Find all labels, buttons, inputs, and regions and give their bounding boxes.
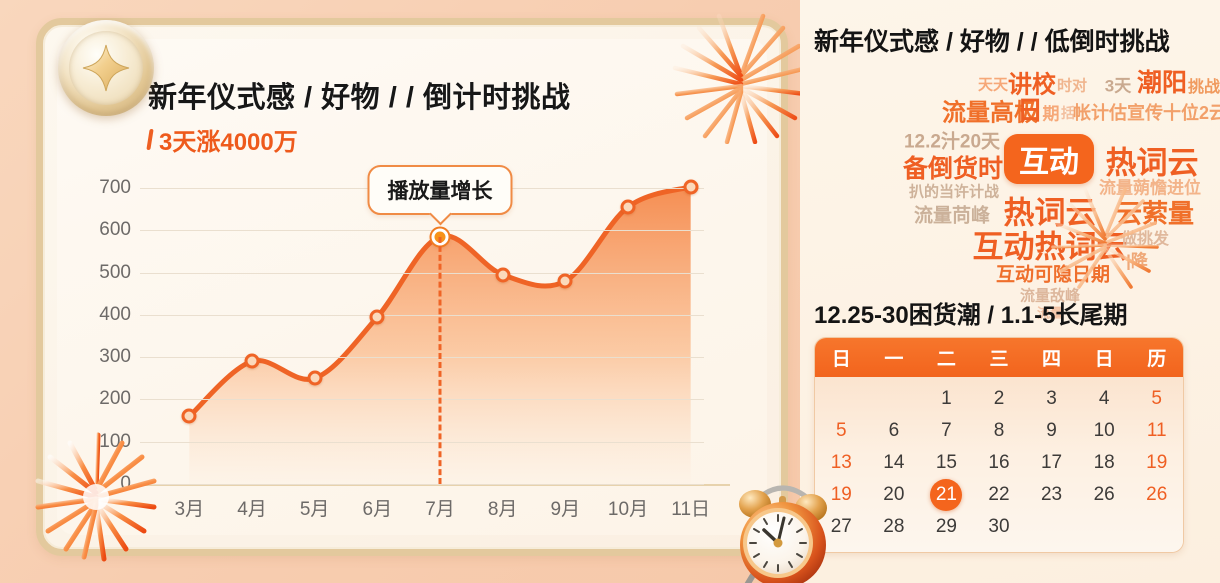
calendar-day-cell[interactable]: 19 <box>1130 447 1183 479</box>
calendar-weekday-header: 三 <box>973 338 1026 377</box>
calendar-header-row: 日一二三四日历 <box>815 338 1183 377</box>
chart-data-point[interactable] <box>307 371 322 386</box>
wordcloud-term[interactable]: 扒的当许计战 <box>909 181 999 202</box>
chart-gridline <box>140 442 704 443</box>
calendar-day-cell[interactable]: 26 <box>1078 479 1131 511</box>
left-chart-card: 新年仪式感 / 好物 / / 倒计时挑战 3天涨4000万 0100200300… <box>36 18 788 556</box>
chart-x-tick-label: 5月 <box>300 494 330 521</box>
chart-x-tick-label: 6月 <box>363 494 393 521</box>
chart-x-tick-label: 8月 <box>488 494 518 521</box>
sparkle-star-icon <box>80 42 132 94</box>
calendar-day-grid[interactable]: 1234556789101113141516171819192021222326… <box>815 377 1183 552</box>
chart-x-tick-label: 4月 <box>237 494 267 521</box>
sparkle-medallion <box>58 20 154 116</box>
calendar-day-cell[interactable]: 9 <box>1025 415 1078 447</box>
calendar-day-cell[interactable]: 20 <box>868 479 921 511</box>
calendar-weekday-header: 历 <box>1130 338 1183 377</box>
chart-x-tick-label: 7月 <box>425 494 455 521</box>
chart-y-tick-label: 0 <box>120 473 131 495</box>
subtitle-tick-mark <box>146 129 153 150</box>
chart-y-tick-label: 100 <box>99 431 131 453</box>
calendar-weekday-header: 一 <box>868 338 921 377</box>
wordcloud-term[interactable]: 时对 <box>1057 75 1087 96</box>
chart-x-tick-label: 10月 <box>608 494 648 521</box>
calendar-day-cell[interactable]: 28 <box>868 511 921 543</box>
right-panel-title: 新年仪式感 / 好物 / / 低倒时挑战 <box>814 22 1206 58</box>
calendar-weekday-header: 四 <box>1025 338 1078 377</box>
chart-y-tick-label: 200 <box>99 388 131 410</box>
calendar-day-cell[interactable]: 2 <box>973 383 1026 415</box>
calendar-day-cell[interactable]: 22 <box>973 479 1026 511</box>
chart-gridline <box>140 315 704 316</box>
chart-y-tick-label: 300 <box>99 346 131 368</box>
calendar-day-cell[interactable]: 4 <box>1078 383 1131 415</box>
calendar-weekday-header: 日 <box>1078 338 1131 377</box>
chart-x-tick-label: 11日 <box>671 494 710 521</box>
calendar-day-cell[interactable]: 5 <box>815 415 868 447</box>
wordcloud-term[interactable]: 帐计估宣传十位2云 <box>1073 99 1220 125</box>
chart-y-tick-label: 400 <box>99 304 131 326</box>
chart-annotation-callout[interactable]: 播放量增长 <box>368 165 513 215</box>
calendar-day-cell[interactable]: 3 <box>1025 383 1078 415</box>
wordcloud-term[interactable]: |降 <box>1126 247 1148 272</box>
chart-x-tick-label: 3月 <box>175 494 205 521</box>
chart-data-point[interactable] <box>370 309 385 324</box>
calendar-weekday-header: 日 <box>815 338 868 377</box>
wordcloud-term[interactable]: 挑战 <box>1188 73 1220 97</box>
calendar-title: 12.25-30困货潮 / 1.1-5长尾期 <box>814 295 1127 330</box>
calendar-day-cell[interactable]: 7 <box>920 415 973 447</box>
calendar-empty-cell <box>1078 511 1131 543</box>
wordcloud-term[interactable]: 日 <box>1017 91 1043 128</box>
chart-data-point[interactable] <box>495 267 510 282</box>
chart-y-tick-label: 500 <box>99 262 131 284</box>
chart-y-tick-label: 600 <box>99 219 131 241</box>
wordcloud-term[interactable]: 期 <box>1043 100 1060 125</box>
hot-words-cloud: 天天讲校时对3天潮阳挑战流量高极日期括帐计估宣传十位2云12.2汁20天备倒货时… <box>800 62 1220 277</box>
calendar-weekday-header: 二 <box>920 338 973 377</box>
calendar-day-cell[interactable]: 13 <box>815 447 868 479</box>
wordcloud-term[interactable]: 潮阳 <box>1137 63 1187 99</box>
chart-x-tick-label: 9月 <box>551 494 581 521</box>
chart-plot-area <box>140 168 704 486</box>
calendar-empty-cell <box>815 383 868 415</box>
calendar-day-cell[interactable]: 6 <box>868 415 921 447</box>
calendar-empty-cell <box>868 383 921 415</box>
wordcloud-term[interactable]: 互动 <box>1004 134 1094 184</box>
calendar-day-cell[interactable]: 8 <box>973 415 1026 447</box>
chart-y-tick-label: 700 <box>99 177 131 199</box>
calendar-day-cell[interactable]: 17 <box>1025 447 1078 479</box>
wordcloud-term[interactable]: 天天 <box>978 74 1008 95</box>
coin-disc <box>58 20 154 116</box>
wordcloud-term[interactable]: 做挑发 <box>1121 225 1169 249</box>
chart-data-point[interactable] <box>621 200 636 215</box>
chart-data-point[interactable] <box>558 274 573 289</box>
calendar-widget[interactable]: 日一二三四日历 12345567891011131415161718191920… <box>814 337 1184 553</box>
calendar-day-cell[interactable]: 1 <box>920 383 973 415</box>
coin-inner-ring <box>69 31 143 105</box>
alarm-clock-icon <box>728 478 838 583</box>
chart-data-point[interactable] <box>182 409 197 424</box>
calendar-day-cell[interactable]: 23 <box>1025 479 1078 511</box>
calendar-empty-cell <box>1130 511 1183 543</box>
chart-gridline <box>140 230 704 231</box>
calendar-day-cell[interactable]: 30 <box>973 511 1026 543</box>
chart-gridline <box>140 273 704 274</box>
chart-gridline <box>140 484 704 485</box>
calendar-day-cell[interactable]: 11 <box>1130 415 1183 447</box>
calendar-day-cell[interactable]: 18 <box>1078 447 1131 479</box>
calendar-day-cell[interactable]: 26 <box>1130 479 1183 511</box>
subtitle-text: 3天涨4000万 <box>159 122 298 157</box>
chart-gridline <box>140 357 704 358</box>
calendar-selected-day[interactable]: 21 <box>920 479 973 511</box>
chart-data-point[interactable] <box>683 179 698 194</box>
wordcloud-term[interactable]: 互动可隐日期 <box>996 260 1110 287</box>
calendar-day-cell[interactable]: 5 <box>1130 383 1183 415</box>
calendar-day-cell[interactable]: 29 <box>920 511 973 543</box>
right-info-panel: 新年仪式感 / 好物 / / 低倒时挑战 天天讲校时对3天潮阳挑战流量高极日期括… <box>800 0 1220 583</box>
page-title: 新年仪式感 / 好物 / / 倒计时挑战 <box>148 74 570 116</box>
calendar-day-cell[interactable]: 14 <box>868 447 921 479</box>
calendar-day-cell[interactable]: 15 <box>920 447 973 479</box>
subtitle-group: 3天涨4000万 <box>148 122 298 157</box>
calendar-day-cell[interactable]: 16 <box>973 447 1026 479</box>
play-volume-area-chart: 01002003004005006007003月4月5月6月7月8月9月10月1… <box>140 168 760 518</box>
calendar-empty-cell <box>1025 511 1078 543</box>
calendar-day-cell[interactable]: 10 <box>1078 415 1131 447</box>
chart-annotation-dashed-line <box>439 237 442 484</box>
chart-gridline <box>140 399 704 400</box>
chart-data-point[interactable] <box>245 354 260 369</box>
wordcloud-term[interactable]: 3天 <box>1105 72 1131 97</box>
